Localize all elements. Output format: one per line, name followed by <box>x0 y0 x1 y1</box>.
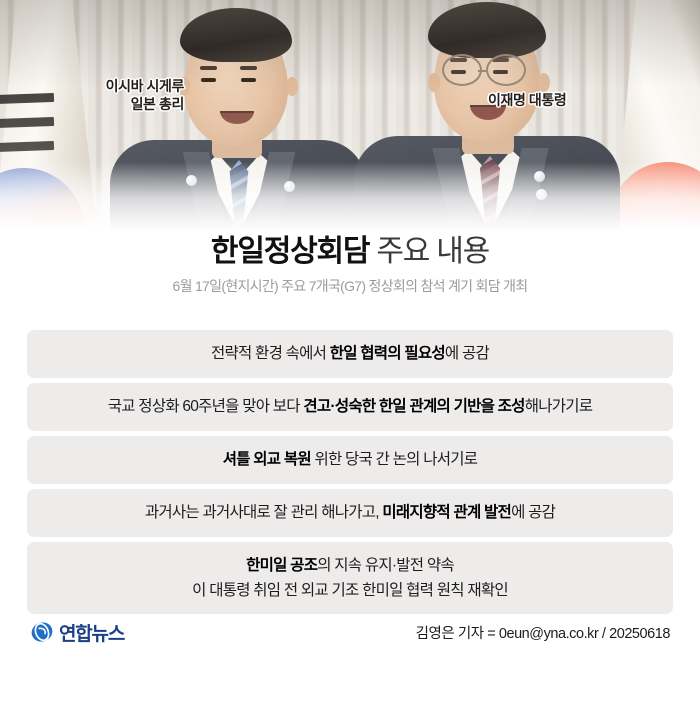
page-title: 한일정상회담주요 내용 <box>0 232 700 272</box>
content-row: 국교 정상화 60주년을 맞아 보다 견고·성숙한 한일 관계의 기반을 조성해… <box>27 383 673 431</box>
content-row: 전략적 환경 속에서 한일 협력의 필요성에 공감 <box>27 330 673 378</box>
footer: 연합뉴스 김영은 기자 = 0eun@yna.co.kr / 20250618 <box>0 612 700 652</box>
content-row: 한미일 공조의 지속 유지·발전 약속 이 대통령 취임 전 외교 기조 한미일… <box>27 542 673 614</box>
brand-name: 연합뉴스 <box>59 619 124 646</box>
content-row-text: 셔틀 외교 복원 위한 당국 간 논의 나서기로 <box>223 447 478 472</box>
photo-banner: 이시바 시게루 일본 총리 이재명 대통령 <box>0 0 700 232</box>
page-title-strong: 한일정상회담 <box>211 235 369 268</box>
content-row: 셔틀 외교 복원 위한 당국 간 논의 나서기로 <box>27 436 673 484</box>
title-block: 한일정상회담주요 내용 6월 17일(현지시간) 주요 7개국(G7) 정상회의… <box>0 232 700 296</box>
photo-shading <box>0 0 700 232</box>
content-row: 과거사는 과거사대로 잘 관리 해나가고, 미래지향적 관계 발전에 공감 <box>27 489 673 537</box>
content-row-text: 국교 정상화 60주년을 맞아 보다 견고·성숙한 한일 관계의 기반을 조성해… <box>108 394 593 419</box>
content-rows: 전략적 환경 속에서 한일 협력의 필요성에 공감 국교 정상화 60주년을 맞… <box>27 330 673 619</box>
brand-logo[interactable]: 연합뉴스 <box>30 619 124 646</box>
content-row-text: 과거사는 과거사대로 잘 관리 해나가고, 미래지향적 관계 발전에 공감 <box>145 500 555 525</box>
byline: 김영은 기자 = 0eun@yna.co.kr / 20250618 <box>416 622 670 643</box>
content-row-text: 한미일 공조의 지속 유지·발전 약속 이 대통령 취임 전 외교 기조 한미일… <box>192 553 508 603</box>
infographic-card: 이시바 시게루 일본 총리 이재명 대통령 한일정상회담주요 내용 6월 17일… <box>0 0 700 720</box>
page-subtitle: 6월 17일(현지시간) 주요 7개국(G7) 정상회의 참석 계기 회담 개최 <box>0 276 700 296</box>
page-title-light: 주요 내용 <box>376 235 489 268</box>
photo-label-ishiba: 이시바 시게루 일본 총리 <box>62 78 184 114</box>
photo-label-lee: 이재명 대통령 <box>488 92 638 110</box>
content-row-text: 전략적 환경 속에서 한일 협력의 필요성에 공감 <box>211 341 489 366</box>
yonhap-logo-icon <box>30 620 54 644</box>
